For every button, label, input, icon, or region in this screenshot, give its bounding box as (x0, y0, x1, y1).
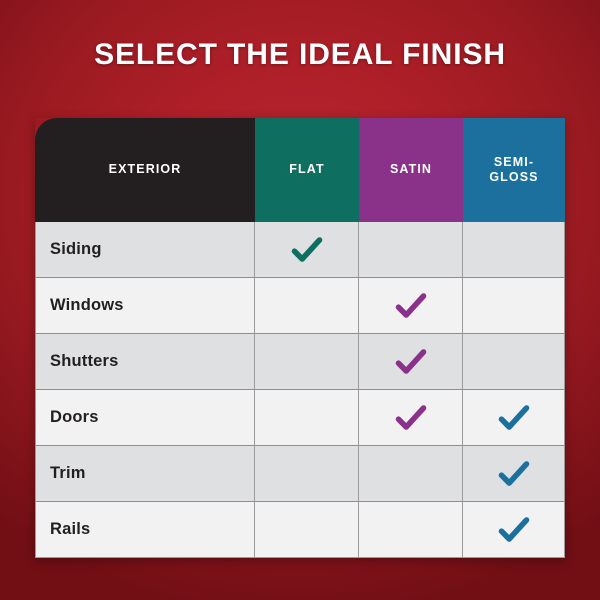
checkmark-icon (394, 401, 428, 435)
column-header-semi-gloss-label: SEMI-GLOSS (489, 155, 538, 186)
page-title: SELECT THE IDEAL FINISH (0, 38, 600, 72)
row-label-text: Siding (50, 240, 102, 259)
checkmark-icon (497, 401, 531, 435)
table-cell-flat[interactable] (255, 222, 359, 278)
table-cell-flat[interactable] (255, 278, 359, 334)
table-cell-semigloss[interactable] (463, 390, 565, 446)
row-label-text: Doors (50, 408, 99, 427)
column-header-flat: FLAT (255, 118, 359, 222)
poster-root: SELECT THE IDEAL FINISH EXTERIOR FLAT SA… (0, 0, 600, 600)
table-row-label: Windows (35, 278, 255, 334)
checkmark-icon (290, 233, 324, 267)
column-header-flat-label: FLAT (289, 162, 324, 177)
table-row-label: Shutters (35, 334, 255, 390)
column-header-semi-gloss: SEMI-GLOSS (463, 118, 565, 222)
table-cell-satin[interactable] (359, 334, 463, 390)
table-cell-satin[interactable] (359, 390, 463, 446)
checkmark-icon (394, 345, 428, 379)
table-grid: EXTERIOR FLAT SATIN SEMI-GLOSS SidingWin… (35, 118, 565, 558)
column-header-satin: SATIN (359, 118, 463, 222)
column-header-exterior-label: EXTERIOR (109, 162, 182, 177)
finish-selection-table: EXTERIOR FLAT SATIN SEMI-GLOSS SidingWin… (35, 118, 565, 558)
table-cell-semigloss[interactable] (463, 278, 565, 334)
table-cell-semigloss[interactable] (463, 334, 565, 390)
row-label-text: Trim (50, 464, 86, 483)
row-label-text: Shutters (50, 352, 119, 371)
table-cell-flat[interactable] (255, 334, 359, 390)
column-header-satin-label: SATIN (390, 162, 432, 177)
table-cell-satin[interactable] (359, 446, 463, 502)
checkmark-icon (394, 289, 428, 323)
table-cell-satin[interactable] (359, 502, 463, 558)
checkmark-icon (497, 513, 531, 547)
table-row-label: Rails (35, 502, 255, 558)
table-cell-semigloss[interactable] (463, 446, 565, 502)
table-cell-semigloss[interactable] (463, 222, 565, 278)
table-cell-flat[interactable] (255, 390, 359, 446)
table-cell-flat[interactable] (255, 502, 359, 558)
table-row-label: Siding (35, 222, 255, 278)
table-row-label: Trim (35, 446, 255, 502)
row-label-text: Rails (50, 520, 90, 539)
table-cell-semigloss[interactable] (463, 502, 565, 558)
table-cell-satin[interactable] (359, 278, 463, 334)
column-header-exterior: EXTERIOR (35, 118, 255, 222)
table-row-label: Doors (35, 390, 255, 446)
checkmark-icon (497, 457, 531, 491)
table-cell-satin[interactable] (359, 222, 463, 278)
table-cell-flat[interactable] (255, 446, 359, 502)
row-label-text: Windows (50, 296, 124, 315)
